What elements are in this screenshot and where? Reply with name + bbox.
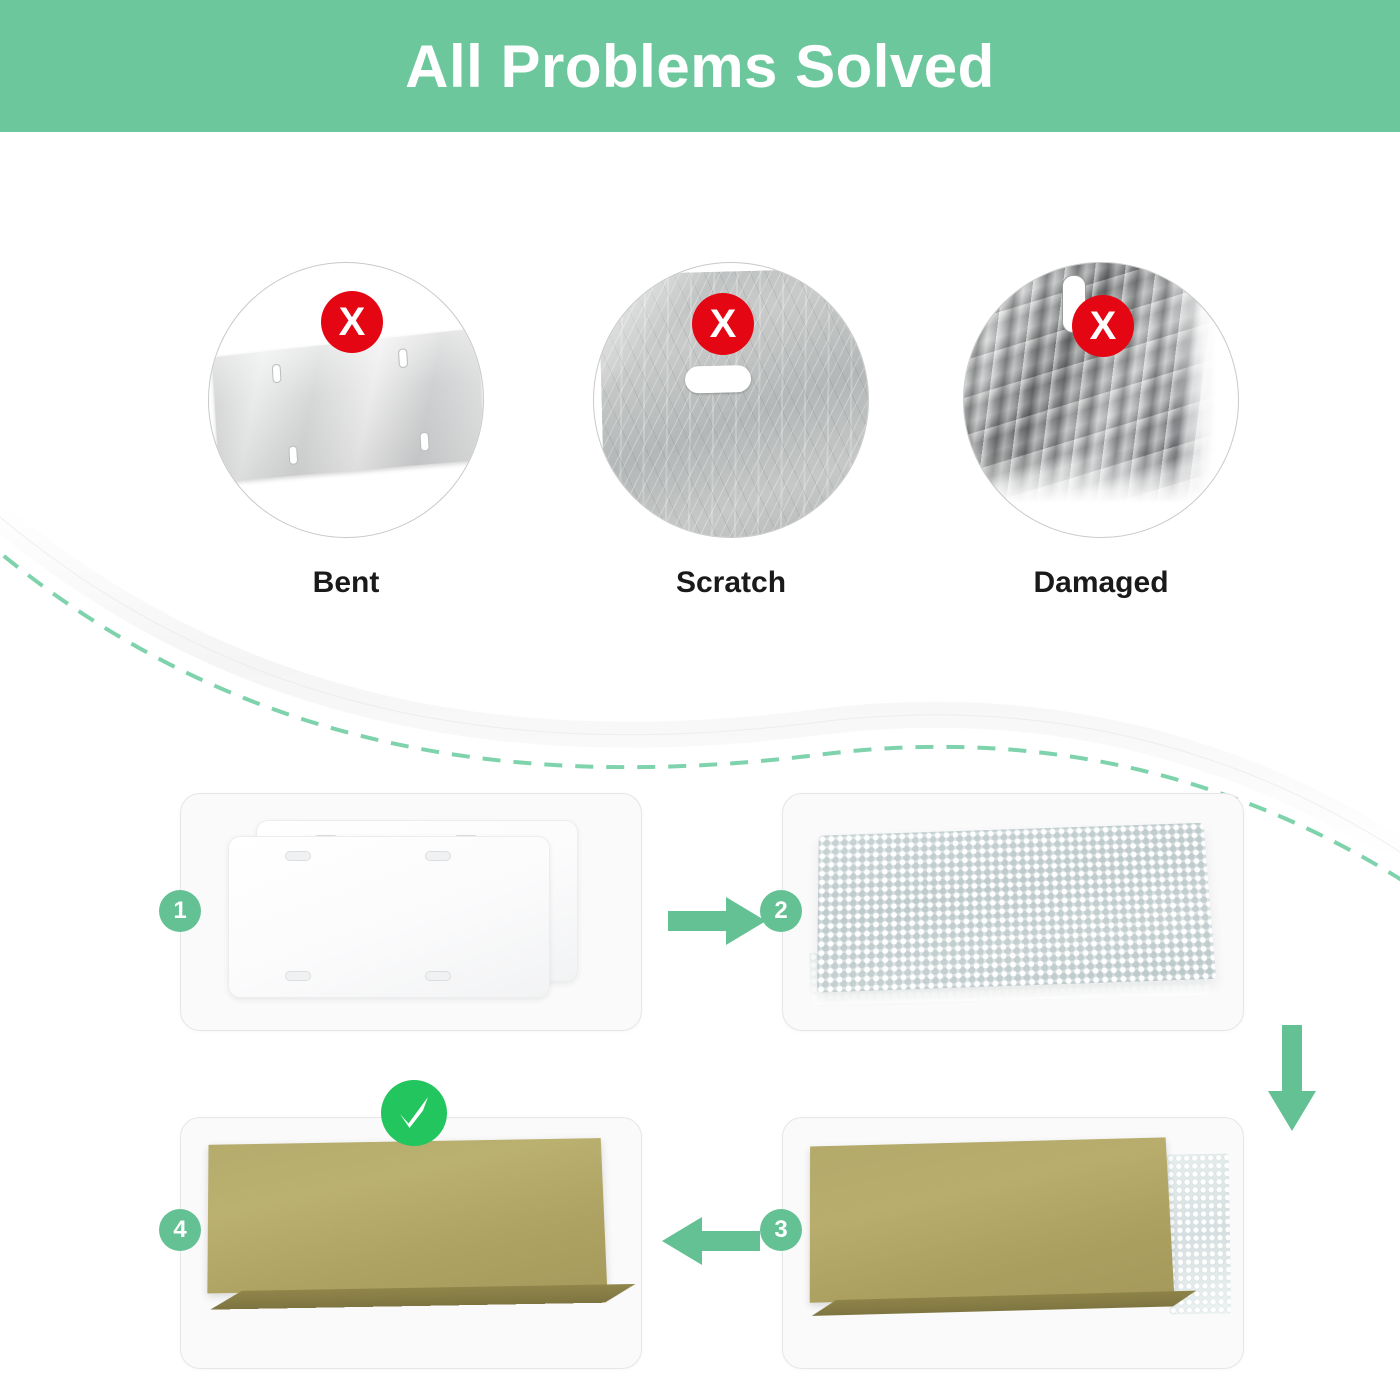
carton-box-sealed <box>207 1138 607 1293</box>
arrow-right-icon <box>668 893 768 949</box>
step-badge-2: 2 <box>760 890 802 932</box>
plate-hole-icon <box>285 851 311 861</box>
bubble-wrapped-plates-photo <box>810 822 1220 1008</box>
license-plate-front <box>228 836 550 998</box>
blank-license-plates-photo <box>228 820 608 1010</box>
check-glyph <box>393 1092 435 1134</box>
carton-box <box>810 1137 1174 1302</box>
arrow-down-icon <box>1264 1025 1320 1135</box>
plate-hole-icon <box>425 851 451 861</box>
x-badge-icon: X <box>692 293 754 355</box>
carton-with-bubble-wrap-photo <box>810 1140 1230 1340</box>
plate-hole-icon <box>285 971 311 981</box>
x-badge-icon: X <box>321 291 383 353</box>
check-badge-icon <box>381 1080 447 1146</box>
sealed-carton-box-photo <box>208 1140 628 1350</box>
x-badge-icon: X <box>1072 295 1134 357</box>
step-badge-3: 3 <box>760 1209 802 1251</box>
arrow-left-icon <box>660 1213 760 1269</box>
step-badge-4: 4 <box>159 1209 201 1251</box>
step-badge-1: 1 <box>159 890 201 932</box>
bubble-wrap-sheet <box>817 823 1216 993</box>
steps-area: 1 2 3 4 <box>0 0 1400 1400</box>
plate-hole-icon <box>425 971 451 981</box>
